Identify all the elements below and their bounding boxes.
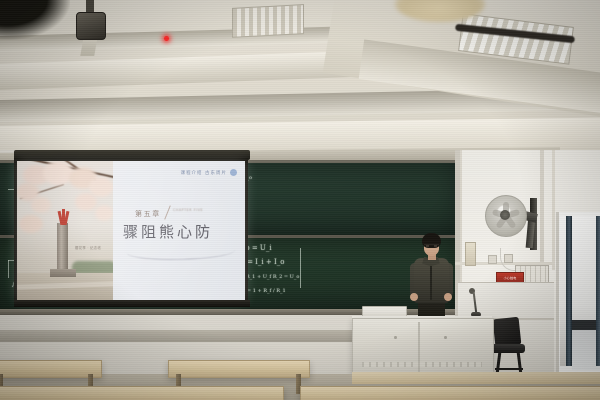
podium-knob[interactable] [444, 336, 447, 339]
monument-column [57, 223, 68, 273]
student-desk [168, 360, 310, 378]
door-post [566, 216, 572, 366]
ceiling-shadow [0, 0, 70, 40]
student-desk [300, 386, 600, 400]
presenter-eye [434, 245, 437, 247]
power-socket[interactable] [504, 254, 513, 263]
slide-title: 骤阻熊心防 [123, 221, 213, 242]
slide-photo: 樱花季 · 纪念塔 [17, 161, 113, 300]
blossom-cluster [43, 161, 73, 185]
student-desk [352, 372, 600, 384]
standing-presenter [408, 233, 454, 325]
ceiling [0, 0, 600, 172]
chair-crossbar [495, 368, 523, 370]
electrical-conduit [552, 150, 555, 270]
air-vent-icon [232, 4, 304, 38]
warning-sign-text: 小心触电 [504, 276, 517, 280]
office-chair-back[interactable] [493, 317, 522, 348]
presenter-eye [426, 245, 429, 247]
slide-header-text: 课程介绍 古东周片 [181, 170, 227, 176]
light-switch-plate[interactable] [465, 242, 476, 266]
blossom-cluster [19, 215, 43, 233]
classroom-photo: U_id U_f A_uf = U_o / U_i A F X_i X_o U_… [0, 0, 600, 400]
fan-hub [500, 210, 510, 220]
projection-screen-weight-bar [14, 300, 250, 307]
baseboard [0, 330, 360, 342]
camera-led-indicator [164, 36, 169, 41]
slide-decorative-swoosh [127, 243, 235, 260]
blossom-cluster [75, 193, 97, 211]
slide-chapter-label: 第五章 [135, 209, 161, 219]
slide-header: 课程介绍 古东周片 [181, 169, 237, 176]
photo-caption: 樱花季 · 纪念塔 [75, 245, 101, 250]
presenter-hand-right [444, 293, 452, 301]
blossom-cluster [31, 197, 51, 213]
blossom-cluster [95, 205, 113, 221]
power-socket[interactable] [488, 255, 497, 264]
student-desk [0, 360, 102, 378]
podium-knob[interactable] [394, 336, 397, 339]
podium-vent [362, 362, 482, 367]
presenter-hand-left [410, 293, 418, 301]
door-post [596, 216, 600, 366]
slide-chapter-sub: CHAPTER FIVE [173, 208, 203, 213]
slide-divider [164, 205, 171, 219]
chalk-wire [8, 260, 9, 278]
monument-base [50, 269, 76, 277]
circle-logo-icon [230, 169, 237, 176]
student-desk [0, 386, 284, 400]
projection-screen: 樱花季 · 纪念塔 课程介绍 古东周片 第五章 CHAPTER FIVE 骤阻熊… [17, 161, 245, 300]
wall-column [540, 150, 544, 280]
office-chair-seat[interactable] [491, 344, 525, 353]
slide-text-area: 课程介绍 古东周片 第五章 CHAPTER FIVE 骤阻熊心防 [113, 161, 245, 300]
ceiling-camera-icon [76, 12, 106, 40]
chalk-divider [300, 248, 301, 288]
